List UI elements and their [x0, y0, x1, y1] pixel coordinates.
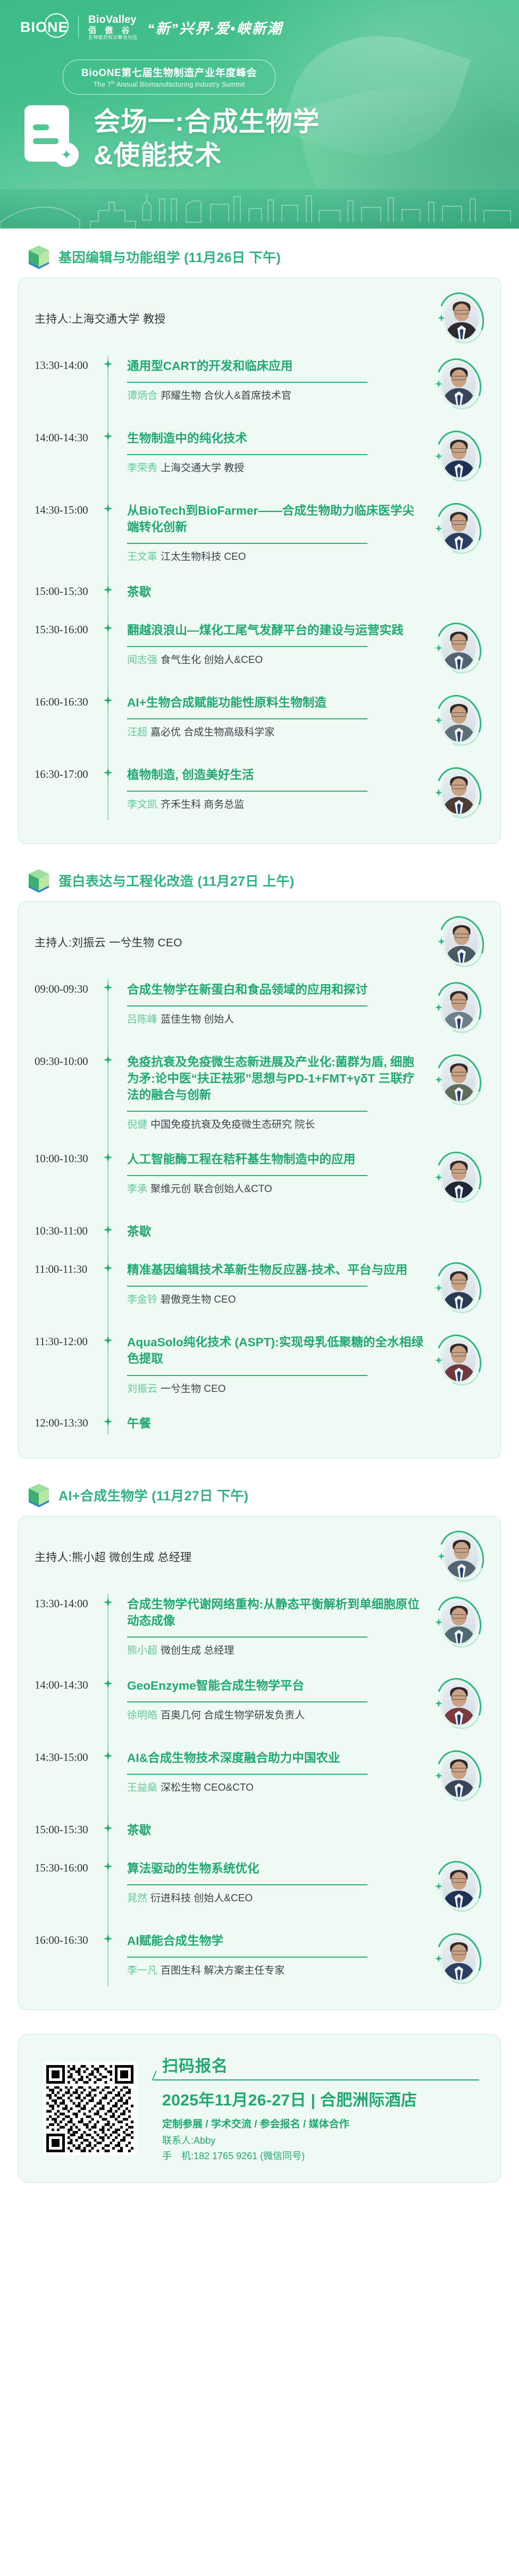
- agenda-item: 15:00-15:30 茶歇: [35, 574, 484, 612]
- speaker-affiliation: 微创生成 总经理: [161, 1645, 234, 1656]
- avatar: [436, 767, 482, 820]
- speaker-affiliation: 中国免疫抗衰及免疫微生态研究 院长: [150, 1119, 315, 1130]
- timeline-marker: [101, 767, 115, 777]
- agenda-item-speaker: 谭炳合邦耀生物 合伙人&首席技术官: [127, 389, 424, 404]
- agenda-item-divider: [127, 1774, 367, 1775]
- agenda-item-body: 合成生物学代谢网络重构:从静态平衡解析到单细胞原位动态成像 熊小超微创生成 总经…: [115, 1596, 433, 1658]
- agenda-item-divider: [127, 718, 367, 719]
- agenda-item-time: 10:00-10:30: [35, 1151, 101, 1165]
- diamond-icon: [104, 1153, 113, 1162]
- speaker-affiliation: 深松生物 CEO&CTO: [161, 1782, 254, 1793]
- agenda-item-avatar: [433, 767, 484, 820]
- speaker-affiliation: 衍进科技 创始人&CEO: [150, 1893, 253, 1904]
- avatar-photo: [442, 435, 476, 477]
- agenda-item-avatar: [433, 1054, 484, 1107]
- avatar-photo: [445, 297, 479, 339]
- agenda-item-divider: [127, 1701, 367, 1702]
- diamond-icon: [104, 1824, 113, 1833]
- avatar: [436, 1860, 482, 1914]
- agenda-item: 09:30-10:00 免疫抗衰及免疫微生态新进展及产业化:菌群为盾, 细胞为矛…: [35, 1044, 484, 1142]
- speaker-affiliation: 蓝佳生物 创始人: [161, 1014, 234, 1025]
- avatar-photo: [442, 1156, 476, 1198]
- cube-icon: [28, 868, 50, 893]
- timeline-marker: [101, 1054, 115, 1064]
- session-host: 主持人:上海交通大学 教授: [35, 311, 166, 326]
- speaker-affiliation: 齐禾生科 商务总监: [161, 799, 244, 810]
- avatar-photo: [442, 1682, 476, 1725]
- diamond-icon: [104, 983, 113, 992]
- agenda-item-time: 14:00-14:30: [35, 430, 101, 444]
- agenda-item-divider: [127, 1637, 367, 1638]
- agenda-item: 15:30-16:00 算法驱动的生物系统优化 晁然衍进科技 创始人&CEO: [35, 1851, 484, 1923]
- speaker-affiliation: 上海交通大学 教授: [161, 463, 244, 474]
- timeline-marker: [101, 1151, 115, 1162]
- avatar-photo: [442, 1059, 476, 1101]
- agenda-item-body: AquaSolo纯化技术 (ASPT):实现母乳低聚糖的全水相绿色提取 刘振云一…: [115, 1334, 433, 1396]
- avatar-photo: [442, 1755, 476, 1797]
- hero-slogan: “新”兴界·爱•峡新潮: [147, 17, 282, 38]
- hero-banner: BIONE BioValley 佰 傲 谷 生物医药知识聚合社区 “新”兴界·爱…: [0, 0, 519, 229]
- agenda-item-topic: 生物制造中的纯化技术: [127, 430, 424, 447]
- agenda-item-time: 09:00-09:30: [35, 981, 101, 996]
- agenda-item: 10:30-11:00 茶歇: [35, 1214, 484, 1252]
- session-block: 基因编辑与功能组学 (11月26日 下午) 主持人:上海交通大学 教授 13:3…: [18, 245, 501, 844]
- session-host-row: 主持人:刘振云 一兮生物 CEO: [35, 916, 484, 972]
- speaker-name: 倪健: [127, 1119, 147, 1130]
- timeline-marker: [101, 1677, 115, 1688]
- diamond-icon: [104, 1862, 113, 1871]
- avatar-photo: [442, 986, 476, 1029]
- agenda-item-divider: [127, 543, 367, 544]
- agenda-item-time: 15:30-16:00: [35, 1860, 101, 1875]
- agenda-item: 11:30-12:00 AquaSolo纯化技术 (ASPT):实现母乳低聚糖的…: [35, 1324, 484, 1406]
- avatar: [436, 1054, 482, 1107]
- agenda-item-speaker: 李荣秀上海交通大学 教授: [127, 462, 424, 476]
- agenda-item-speaker: 汪超嘉必优 合成生物高级科学家: [127, 726, 424, 740]
- agenda-item-body: 翻越浪浪山—煤化工尾气发酵平台的建设与运营实践 闻志强食气生化 创始人&CEO: [115, 622, 433, 668]
- timeline-marker: [101, 1596, 115, 1607]
- sessions-container: 基因编辑与功能组学 (11月26日 下午) 主持人:上海交通大学 教授 13:3…: [18, 245, 501, 2010]
- agenda-item-time: 15:00-15:30: [35, 1822, 101, 1836]
- agenda-item-speaker: 李文凯齐禾生科 商务总监: [127, 798, 424, 812]
- timeline-marker: [101, 1334, 115, 1345]
- agenda-item-divider: [127, 1286, 367, 1287]
- avatar-photo: [445, 920, 479, 963]
- session-host-row: 主持人:上海交通大学 教授: [35, 292, 484, 348]
- agenda-item-topic: 算法驱动的生物系统优化: [127, 1860, 424, 1877]
- host-avatar: [439, 1530, 484, 1583]
- timeline-marker: [101, 1223, 115, 1234]
- avatar-photo: [445, 1535, 479, 1578]
- speaker-name: 李荣秀: [127, 463, 157, 474]
- agenda-item: 09:00-09:30 合成生物学在新蛋白和食品领域的应用和探讨 吕陈峰蓝佳生物…: [35, 972, 484, 1044]
- agenda-item-speaker: 吕陈峰蓝佳生物 创始人: [127, 1013, 424, 1027]
- timeline-marker: [101, 1933, 115, 1943]
- avatar-photo: [442, 1339, 476, 1381]
- avatar: [436, 358, 482, 411]
- agenda-item-body: AI赋能合成生物学 李一凡百图生科 解决方案主任专家: [115, 1933, 433, 1978]
- agenda-item: 14:00-14:30 生物制造中的纯化技术 李荣秀上海交通大学 教授: [35, 421, 484, 493]
- agenda-item-body: AI+生物合成赋能功能性原料生物制造 汪超嘉必优 合成生物高级科学家: [115, 694, 433, 740]
- diamond-icon: [104, 1679, 113, 1688]
- speaker-name: 闻志强: [127, 655, 157, 666]
- agenda-item-avatar: [433, 1262, 484, 1315]
- agenda-item-body: 算法驱动的生物系统优化 晁然衍进科技 创始人&CEO: [115, 1860, 433, 1906]
- agenda-item-divider: [127, 791, 367, 792]
- avatar-photo: [442, 1266, 476, 1309]
- agenda-item: 13:30-14:00 通用型CART的开发和临床应用 谭炳合邦耀生物 合伙人&…: [35, 348, 484, 421]
- avatar: [436, 502, 482, 556]
- session-card: 主持人:上海交通大学 教授 13:30-14:00 通用型CART的开发和临床应…: [18, 278, 501, 844]
- agenda-item-body: 从BioTech到BioFarmer——合成生物助力临床医学尖端转化创新 王文革…: [115, 502, 433, 565]
- timeline-marker: [101, 1262, 115, 1272]
- timeline-marker: [101, 1415, 115, 1426]
- session-title: AI+合成生物学 (11月27日 下午): [58, 1486, 248, 1505]
- host-avatar: [439, 292, 484, 345]
- speaker-name: 晁然: [127, 1893, 147, 1904]
- host-avatar: [439, 916, 484, 969]
- speaker-affiliation: 百奥几何 合成生物学研发负责人: [161, 1710, 305, 1721]
- agenda-items: 13:30-14:00 合成生物学代谢网络重构:从静态平衡解析到单细胞原位动态成…: [35, 1587, 484, 1995]
- avatar-photo: [442, 627, 476, 669]
- agenda-item-body: 茶歇: [115, 1223, 433, 1240]
- agenda-item-topic: AquaSolo纯化技术 (ASPT):实现母乳低聚糖的全水相绿色提取: [127, 1334, 424, 1367]
- agenda-item-topic: 通用型CART的开发和临床应用: [127, 358, 424, 374]
- agenda-item-body: 人工智能酶工程在秸秆基生物制造中的应用 李承聚维元创 联合创始人&CTO: [115, 1151, 433, 1197]
- agenda-item-topic: AI&合成生物技术深度融合助力中国农业: [127, 1750, 424, 1766]
- speaker-name: 谭炳合: [127, 390, 157, 401]
- session-title: 蛋白表达与工程化改造 (11月27日 上午): [58, 871, 295, 890]
- speaker-name: 徐明皓: [127, 1710, 157, 1721]
- footer-contact: 联系人:Abby: [159, 2133, 479, 2149]
- timeline-marker: [101, 1750, 115, 1760]
- timeline-marker: [101, 1822, 115, 1833]
- agenda-item-speaker: 刘振云一兮生物 CEO: [127, 1382, 424, 1397]
- agenda-item-avatar: [433, 622, 484, 675]
- agenda-item-topic: 免疫抗衰及免疫微生态新进展及产业化:菌群为盾, 细胞为矛:论中医“扶正祛邪”思想…: [127, 1054, 424, 1103]
- avatar-photo: [442, 507, 476, 550]
- speaker-name: 李文凯: [127, 799, 157, 810]
- speaker-name: 李承: [127, 1184, 147, 1195]
- timeline-marker: [101, 1860, 115, 1871]
- timeline-marker: [101, 694, 115, 705]
- diamond-icon: [104, 1263, 113, 1272]
- footer-info: 扫码报名 2025年11月26-27日 | 合肥洲际酒店 定制参展 / 学术交流…: [159, 2053, 479, 2164]
- agenda-item-topic: 茶歇: [127, 1223, 424, 1240]
- agenda-item-avatar: [433, 358, 484, 411]
- agenda-item-time: 16:00-16:30: [35, 694, 101, 709]
- agenda-item-divider: [127, 1005, 367, 1006]
- speaker-affiliation: 邦耀生物 合伙人&首席技术官: [161, 390, 291, 401]
- speaker-name: 吕陈峰: [127, 1014, 157, 1025]
- session-host: 主持人:刘振云 一兮生物 CEO: [35, 934, 182, 950]
- agenda-item-topic: AI+生物合成赋能功能性原料生物制造: [127, 694, 424, 711]
- agenda-item-time: 15:00-15:30: [35, 584, 101, 598]
- speaker-affiliation: 百图生科 解决方案主任专家: [161, 1965, 284, 1976]
- cube-icon: [28, 1483, 50, 1507]
- event-date-venue: 2025年11月26-27日 | 合肥洲际酒店: [159, 2087, 479, 2110]
- agenda-item: 14:30-15:00 从BioTech到BioFarmer——合成生物助力临床…: [35, 493, 484, 574]
- agenda-item-time: 09:30-10:00: [35, 1054, 101, 1068]
- diamond-icon: [104, 1336, 113, 1345]
- diamond-icon: [104, 1055, 113, 1064]
- logo-row: BIONE BioValley 佰 傲 谷 生物医药知识聚合社区 “新”兴界·爱…: [20, 12, 282, 43]
- agenda-item-topic: AI赋能合成生物学: [127, 1933, 424, 1949]
- agenda-item: 13:30-14:00 合成生物学代谢网络重构:从静态平衡解析到单细胞原位动态成…: [35, 1587, 484, 1668]
- agenda-item-topic: 精准基因编辑技术革新生物反应器-技术、平台与应用: [127, 1262, 424, 1278]
- agenda-item-topic: 人工智能酶工程在秸秆基生物制造中的应用: [127, 1151, 424, 1168]
- biovalley-logo-sub: 生物医药知识聚合社区: [88, 35, 138, 40]
- avatar-host: [439, 916, 484, 969]
- session-title: 基因编辑与功能组学 (11月26日 下午): [58, 247, 281, 266]
- avatar: [436, 622, 482, 675]
- avatar: [436, 1677, 482, 1731]
- speaker-name: 刘振云: [127, 1383, 157, 1395]
- avatar: [436, 1750, 482, 1803]
- agenda-page: 基因编辑与功能组学 (11月26日 下午) 主持人:上海交通大学 教授 13:3…: [0, 229, 519, 2183]
- agenda-item-time: 12:00-13:30: [35, 1415, 101, 1430]
- avatar: [436, 1334, 482, 1387]
- agenda-item-speaker: 晁然衍进科技 创始人&CEO: [127, 1892, 424, 1906]
- summit-title-pill: BioONE第七届生物制造产业年度峰会 The 7th Annual Bioma…: [63, 60, 275, 95]
- agenda-item: 15:30-16:00 翻越浪浪山—煤化工尾气发酵平台的建设与运营实践 闻志强食…: [35, 612, 484, 685]
- logo-divider: [78, 15, 79, 39]
- speaker-affiliation: 聚维元创 联合创始人&CTO: [150, 1184, 272, 1195]
- agenda-item-avatar: [433, 1596, 484, 1649]
- speaker-name: 熊小超: [127, 1645, 157, 1656]
- agenda-item-time: 14:00-14:30: [35, 1677, 101, 1692]
- timeline-marker: [101, 622, 115, 633]
- session-header: AI+合成生物学 (11月27日 下午): [28, 1483, 501, 1507]
- session-card: 主持人:刘振云 一兮生物 CEO 09:00-09:30 合成生物学在新蛋白和食…: [18, 901, 501, 1458]
- speaker-name: 李一凡: [127, 1965, 157, 1976]
- agenda-item-divider: [127, 646, 367, 647]
- agenda-item-divider: [127, 1375, 367, 1376]
- agenda-item-topic: GeoEnzyme智能合成生物学平台: [127, 1677, 424, 1694]
- agenda-item-time: 10:30-11:00: [35, 1223, 101, 1238]
- cube-icon: [28, 245, 50, 269]
- agenda-item-topic: 从BioTech到BioFarmer——合成生物助力临床医学尖端转化创新: [127, 502, 424, 535]
- agenda-item: 15:00-15:30 茶歇: [35, 1813, 484, 1851]
- agenda-item-body: 茶歇: [115, 584, 433, 600]
- speaker-affiliation: 嘉必优 合成生物高级科学家: [150, 727, 274, 738]
- session-block: AI+合成生物学 (11月27日 下午) 主持人:熊小超 微创生成 总经理 13…: [18, 1483, 501, 2010]
- diamond-icon: [104, 432, 113, 441]
- biovalley-logo-cn: 佰 傲 谷: [88, 26, 138, 35]
- agenda-item-topic: 植物制造, 创造美好生活: [127, 767, 424, 783]
- avatar: [436, 981, 482, 1035]
- agenda-item-avatar: [433, 694, 484, 748]
- speaker-affiliation: 江太生物科技 CEO: [161, 551, 246, 563]
- agenda-item: 16:30-17:00 植物制造, 创造美好生活 李文凯齐禾生科 商务总监: [35, 757, 484, 829]
- agenda-item: 14:00-14:30 GeoEnzyme智能合成生物学平台 徐明皓百奥几何 合…: [35, 1668, 484, 1740]
- agenda-item-speaker: 李承聚维元创 联合创始人&CTO: [127, 1182, 424, 1197]
- diamond-icon: [104, 768, 113, 777]
- agenda-item-body: 免疫抗衰及免疫微生态新进展及产业化:菌群为盾, 细胞为矛:论中医“扶正祛邪”思想…: [115, 1054, 433, 1132]
- agenda-item-body: 生物制造中的纯化技术 李荣秀上海交通大学 教授: [115, 430, 433, 476]
- agenda-item-time: 14:30-15:00: [35, 1750, 101, 1764]
- avatar-photo: [442, 1601, 476, 1643]
- venue-title-block: ✦ 会场一:合成生物学 &使能技术: [24, 105, 320, 172]
- agenda-item-topic: 合成生物学代谢网络重构:从静态平衡解析到单细胞原位动态成像: [127, 1596, 424, 1629]
- agenda-item-topic: 合成生物学在新蛋白和食品领域的应用和探讨: [127, 981, 424, 998]
- agenda-item-topic: 茶歇: [127, 1822, 424, 1839]
- agenda-item-avatar: [433, 502, 484, 556]
- diamond-icon: [104, 504, 113, 513]
- diamond-icon: [104, 585, 113, 594]
- diamond-icon: [104, 1598, 113, 1607]
- document-star-icon: ✦: [24, 105, 80, 168]
- agenda-item: 16:00-16:30 AI+生物合成赋能功能性原料生物制造 汪超嘉必优 合成生…: [35, 685, 484, 757]
- biovalley-logo: BioValley 佰 傲 谷 生物医药知识聚合社区: [88, 14, 138, 40]
- agenda-item-speaker: 李一凡百图生科 解决方案主任专家: [127, 1964, 424, 1978]
- agenda-item-divider: [127, 1884, 367, 1885]
- agenda-item-body: 午餐: [115, 1415, 433, 1432]
- biovalley-logo-en: BioValley: [88, 14, 138, 26]
- agenda-items: 13:30-14:00 通用型CART的开发和临床应用 谭炳合邦耀生物 合伙人&…: [35, 348, 484, 829]
- agenda-items: 09:00-09:30 合成生物学在新蛋白和食品领域的应用和探讨 吕陈峰蓝佳生物…: [35, 972, 484, 1444]
- agenda-item-divider: [127, 1957, 367, 1958]
- avatar-photo: [442, 363, 476, 405]
- agenda-item-topic: 茶歇: [127, 584, 424, 600]
- speaker-affiliation: 碧傲竞生物 CEO: [161, 1294, 236, 1305]
- speaker-affiliation: 食气生化 创始人&CEO: [161, 655, 263, 666]
- qr-code[interactable]: [43, 2062, 137, 2155]
- agenda-item-time: 15:30-16:00: [35, 622, 101, 636]
- agenda-item-avatar: [433, 1334, 484, 1387]
- page-title: 会场一:合成生物学 &使能技术: [94, 105, 320, 172]
- agenda-item-body: AI&合成生物技术深度融合助力中国农业 王益燊深松生物 CEO&CTO: [115, 1750, 433, 1795]
- diamond-icon: [104, 1751, 113, 1760]
- agenda-item-speaker: 王文革江太生物科技 CEO: [127, 550, 424, 565]
- agenda-item-speaker: 徐明皓百奥几何 合成生物学研发负责人: [127, 1709, 424, 1723]
- agenda-item-divider: [127, 1111, 367, 1112]
- speaker-name: 王益燊: [127, 1782, 157, 1793]
- agenda-item-avatar: [433, 1677, 484, 1731]
- agenda-item-time: 13:30-14:00: [35, 358, 101, 372]
- agenda-item-speaker: 闻志强食气生化 创始人&CEO: [127, 653, 424, 668]
- footer-services: 定制参展 / 学术交流 / 参会报名 / 媒体合作: [159, 2117, 479, 2133]
- agenda-item: 11:00-11:30 精准基因编辑技术革新生物反应器-技术、平台与应用 李金铃…: [35, 1252, 484, 1324]
- agenda-item-body: 合成生物学在新蛋白和食品领域的应用和探讨 吕陈峰蓝佳生物 创始人: [115, 981, 433, 1027]
- agenda-item-time: 13:30-14:00: [35, 1596, 101, 1610]
- avatar: [436, 430, 482, 483]
- agenda-item-avatar: [433, 1933, 484, 1986]
- agenda-item-speaker: 王益燊深松生物 CEO&CTO: [127, 1781, 424, 1795]
- avatar-host: [439, 292, 484, 345]
- scan-to-register-title: 扫码报名: [159, 2053, 479, 2076]
- agenda-item: 16:00-16:30 AI赋能合成生物学 李一凡百图生科 解决方案主任专家: [35, 1923, 484, 1995]
- avatar: [436, 694, 482, 748]
- agenda-item-body: 精准基因编辑技术革新生物反应器-技术、平台与应用 李金铃碧傲竞生物 CEO: [115, 1262, 433, 1307]
- agenda-item-avatar: [433, 1151, 484, 1204]
- timeline-marker: [101, 981, 115, 992]
- agenda-item-topic: 午餐: [127, 1415, 424, 1432]
- timeline-marker: [101, 358, 115, 368]
- agenda-item-avatar: [433, 1860, 484, 1914]
- timeline-marker: [101, 502, 115, 513]
- diamond-icon: [104, 359, 113, 368]
- agenda-item-speaker: 倪健中国免疫抗衰及免疫微生态研究 院长: [127, 1118, 424, 1132]
- session-block: 蛋白表达与工程化改造 (11月27日 上午) 主持人:刘振云 一兮生物 CEO …: [18, 868, 501, 1458]
- timeline-marker: [101, 584, 115, 594]
- agenda-item: 12:00-13:30 午餐: [35, 1406, 484, 1444]
- summit-title-cn: BioONE第七届生物制造产业年度峰会: [81, 65, 257, 79]
- agenda-item-body: 通用型CART的开发和临床应用 谭炳合邦耀生物 合伙人&首席技术官: [115, 358, 433, 404]
- agenda-item-divider: [127, 382, 367, 383]
- speaker-name: 李金铃: [127, 1294, 157, 1305]
- agenda-item: 14:30-15:00 AI&合成生物技术深度融合助力中国农业 王益燊深松生物 …: [35, 1740, 484, 1813]
- avatar-photo: [442, 699, 476, 742]
- avatar-photo: [442, 771, 476, 814]
- diamond-icon: [104, 1225, 113, 1234]
- avatar-photo: [442, 1937, 476, 1980]
- avatar: [436, 1262, 482, 1315]
- agenda-item-time: 14:30-15:00: [35, 502, 101, 517]
- agenda-item-topic: 翻越浪浪山—煤化工尾气发酵平台的建设与运营实践: [127, 622, 424, 639]
- bione-logo: BIONE: [20, 19, 69, 36]
- bione-logo-ring-icon: [44, 13, 69, 38]
- agenda-item-time: 11:00-11:30: [35, 1262, 101, 1276]
- registration-footer: 扫码报名 2025年11月26-27日 | 合肥洲际酒店 定制参展 / 学术交流…: [18, 2034, 501, 2183]
- diamond-icon: [104, 1934, 113, 1943]
- speaker-affiliation: 一兮生物 CEO: [161, 1383, 225, 1395]
- skyline-decoration: [0, 189, 519, 229]
- avatar-host: [439, 1530, 484, 1583]
- agenda-item-divider: [127, 1175, 367, 1176]
- speaker-name: 王文革: [127, 551, 157, 563]
- agenda-item-body: GeoEnzyme智能合成生物学平台 徐明皓百奥几何 合成生物学研发负责人: [115, 1677, 433, 1723]
- agenda-item-divider: [127, 454, 367, 455]
- session-host: 主持人:熊小超 微创生成 总经理: [35, 1549, 191, 1565]
- agenda-item-body: 植物制造, 创造美好生活 李文凯齐禾生科 商务总监: [115, 767, 433, 812]
- avatar: [436, 1933, 482, 1986]
- avatar-photo: [442, 1865, 476, 1908]
- footer-divider: [154, 2079, 479, 2080]
- agenda-item-speaker: 李金铃碧傲竞生物 CEO: [127, 1293, 424, 1307]
- agenda-item-speaker: 熊小超微创生成 总经理: [127, 1644, 424, 1658]
- agenda-item-time: 16:30-17:00: [35, 767, 101, 781]
- footer-phone: 手 机:182 1765 9261 (微信同号): [159, 2149, 479, 2164]
- agenda-item-avatar: [433, 1750, 484, 1803]
- session-host-row: 主持人:熊小超 微创生成 总经理: [35, 1530, 484, 1587]
- avatar: [436, 1596, 482, 1649]
- agenda-item-avatar: [433, 430, 484, 483]
- diamond-icon: [104, 624, 113, 633]
- session-header: 蛋白表达与工程化改造 (11月27日 上午): [28, 868, 501, 893]
- agenda-item-time: 11:30-12:00: [35, 1334, 101, 1348]
- diamond-icon: [104, 1417, 113, 1426]
- speaker-name: 汪超: [127, 727, 147, 738]
- avatar: [436, 1151, 482, 1204]
- agenda-item-avatar: [433, 981, 484, 1035]
- agenda-item-time: 16:00-16:30: [35, 1933, 101, 1947]
- summit-title-en: The 7th Annual Biomanufacturing Industry…: [81, 80, 257, 88]
- session-card: 主持人:熊小超 微创生成 总经理 13:30-14:00 合成生物学代谢网络重构…: [18, 1516, 501, 2010]
- session-header: 基因编辑与功能组学 (11月26日 下午): [28, 245, 501, 269]
- agenda-item: 10:00-10:30 人工智能酶工程在秸秆基生物制造中的应用 李承聚维元创 联…: [35, 1142, 484, 1214]
- timeline-marker: [101, 430, 115, 441]
- diamond-icon: [104, 696, 113, 705]
- agenda-item-body: 茶歇: [115, 1822, 433, 1839]
